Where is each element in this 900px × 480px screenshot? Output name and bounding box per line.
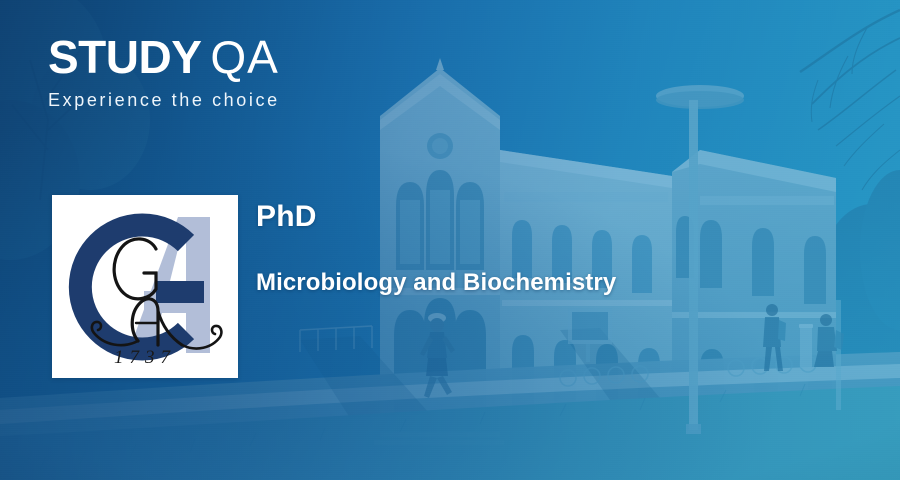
goettingen-crest-icon: 1737 <box>60 203 230 371</box>
studyqa-wordmark: STUDYQA <box>48 34 280 80</box>
university-logo-card[interactable]: 1737 <box>52 195 238 378</box>
wordmark-qa: QA <box>210 31 278 83</box>
crest-g-bar <box>156 281 204 303</box>
studyqa-logo[interactable]: STUDYQA Experience the choice <box>48 34 280 109</box>
program-banner: STUDYQA Experience the choice <box>0 0 900 480</box>
wordmark-study: STUDY <box>48 31 201 83</box>
degree-level-title: PhD <box>256 200 317 234</box>
program-name-title: Microbiology and Biochemistry <box>256 269 616 297</box>
crest-founding-year: 1737 <box>114 347 176 368</box>
brand-tagline: Experience the choice <box>48 91 280 109</box>
